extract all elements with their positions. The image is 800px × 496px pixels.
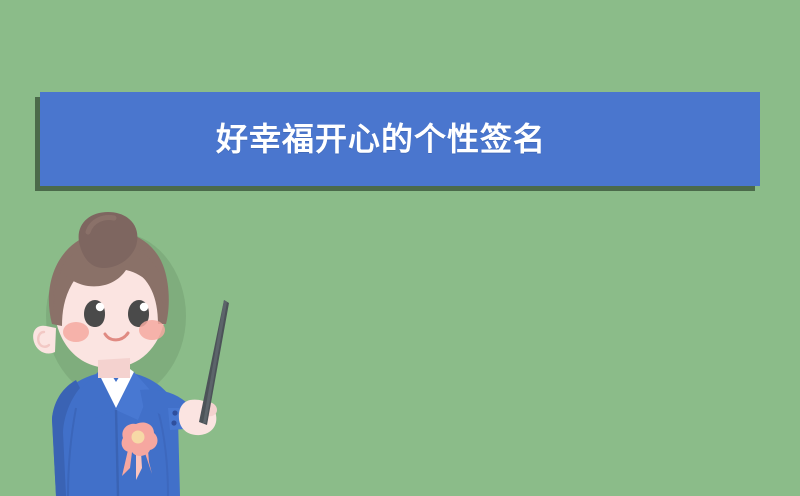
sleeve-button-1 [172, 410, 177, 415]
jacket-group [52, 366, 180, 496]
eye-right-highlight [140, 303, 148, 311]
ear [33, 326, 56, 354]
teacher-illustration [18, 212, 248, 496]
neck [98, 358, 130, 378]
eye-left-highlight [96, 303, 104, 311]
blush-left [63, 322, 89, 342]
page-title: 好幸福开心的个性签名 [216, 123, 546, 155]
title-banner: 好幸福开心的个性签名 [40, 92, 760, 186]
sleeve-button-3 [171, 420, 176, 425]
signature-image-canvas: 好幸福开心的个性签名 [0, 0, 800, 496]
badge-center [132, 431, 145, 444]
blush-right [139, 320, 165, 340]
